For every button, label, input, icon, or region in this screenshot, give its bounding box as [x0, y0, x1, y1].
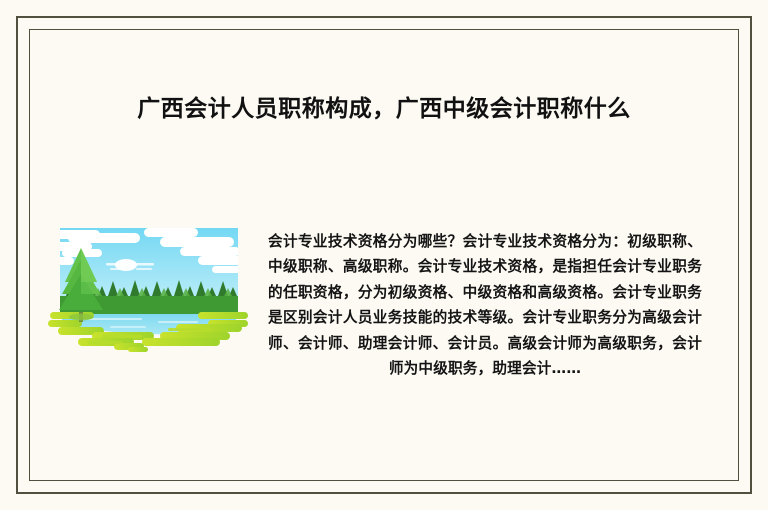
- page-title: 广西会计人员职称构成，广西中级会计职称什么: [0, 93, 768, 125]
- landscape-svg: [48, 224, 248, 352]
- lake-forest-landscape-illustration: [48, 224, 248, 352]
- article-body-text: 会计专业技术资格分为哪些？会计专业技术资格分为：初级职称、中级职称、高级职称。会…: [268, 229, 702, 382]
- page-root: 广西会计人员职称构成，广西中级会计职称什么: [0, 0, 768, 510]
